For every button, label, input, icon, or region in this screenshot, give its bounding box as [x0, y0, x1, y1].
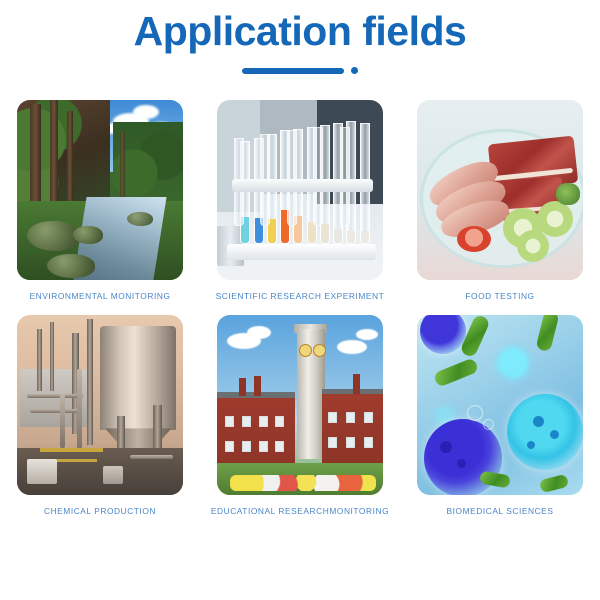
page-header: Application fields — [0, 0, 600, 74]
field-card-biomedical-sciences[interactable]: BIOMEDICAL SCIENCES — [400, 315, 600, 516]
field-card-chemical-production[interactable]: CHEMICAL PRODUCTION — [0, 315, 200, 516]
divider-dot — [351, 67, 358, 74]
application-fields-page: Application fields — [0, 0, 600, 600]
field-card-scientific-research-experiment[interactable]: SCIENTIFIC RESEARCH EXPERIMENT — [200, 100, 400, 301]
chemical-plant-photo[interactable] — [17, 315, 183, 495]
card-caption: SCIENTIFIC RESEARCH EXPERIMENT — [216, 291, 385, 301]
campus-clock-tower-photo[interactable] — [217, 315, 383, 495]
page-title: Application fields — [0, 8, 600, 55]
microbiology-cells-photo[interactable] — [417, 315, 583, 495]
food-plate-photo[interactable] — [417, 100, 583, 280]
field-card-food-testing[interactable]: FOOD TESTING — [400, 100, 600, 301]
title-divider — [0, 67, 600, 74]
card-caption: EDUCATIONAL RESEARCHMONITORING — [211, 506, 389, 516]
card-caption: ENVIRONMENTAL MONITORING — [29, 291, 170, 301]
card-caption: CHEMICAL PRODUCTION — [44, 506, 156, 516]
card-caption: FOOD TESTING — [465, 291, 534, 301]
field-card-environmental-monitoring[interactable]: ENVIRONMENTAL MONITORING — [0, 100, 200, 301]
field-card-educational-research-monitoring[interactable]: EDUCATIONAL RESEARCHMONITORING — [200, 315, 400, 516]
divider-bar — [242, 68, 344, 74]
test-tubes-photo[interactable] — [217, 100, 383, 280]
forest-river-photo[interactable] — [17, 100, 183, 280]
application-fields-grid: ENVIRONMENTAL MONITORING — [0, 100, 600, 516]
card-caption: BIOMEDICAL SCIENCES — [447, 506, 554, 516]
